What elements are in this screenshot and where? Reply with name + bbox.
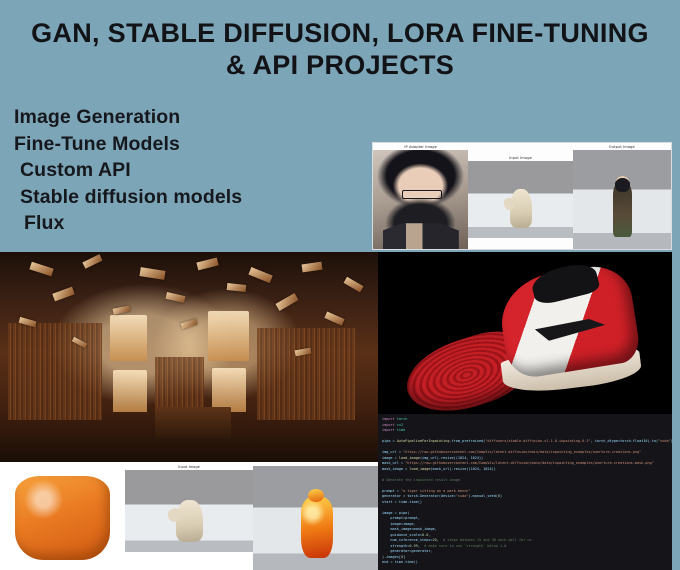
flying-book xyxy=(29,261,53,276)
feature-item-image-generation: Image Generation xyxy=(14,104,364,131)
code-line: end = time.time() xyxy=(382,560,680,566)
flying-book xyxy=(275,293,298,311)
ip-adapter-demo-strip: IP Adapter Image Input Image Output Imag… xyxy=(372,142,672,250)
code-line: pipe = AutoPipelineForInpainting.from_pr… xyxy=(382,439,680,445)
code-editor-pane[interactable]: import torchimport cv2import time pipe =… xyxy=(378,414,680,570)
flying-book xyxy=(325,311,345,325)
anime-output-image xyxy=(573,150,671,249)
ip-adapter-input-caption: Input Image xyxy=(509,154,532,161)
flying-book xyxy=(113,305,131,315)
ip-adapter-reference-caption: IP Adapter Image xyxy=(404,143,437,150)
gummy-bears-image xyxy=(0,466,125,570)
flying-book xyxy=(83,255,103,270)
flying-book xyxy=(181,319,198,329)
library-shelf-left xyxy=(8,323,103,420)
anime-portrait-image xyxy=(373,150,468,249)
library-window-left xyxy=(110,315,148,361)
sneaker-showcase-image xyxy=(378,252,680,414)
right-edge-strip xyxy=(672,252,680,570)
code-body: import torchimport cv2import time pipe =… xyxy=(382,417,680,566)
flying-book xyxy=(196,258,218,270)
polar-bear-input-image xyxy=(125,470,254,552)
feature-list: Image Generation Fine-Tune Models Custom… xyxy=(14,104,364,237)
ip-adapter-output-panel: Output Image xyxy=(573,143,671,249)
feature-item-fine-tune-models: Fine-Tune Models xyxy=(14,131,364,158)
flying-book xyxy=(249,267,273,283)
flying-book xyxy=(166,292,186,303)
gummy-bear-output-image xyxy=(253,466,378,570)
inpaint-demo-strip: Input Image xyxy=(0,462,378,570)
flying-book xyxy=(52,286,75,301)
inpaint-reference-panel xyxy=(0,462,125,570)
feature-item-flux: Flux xyxy=(14,210,364,237)
feature-item-stable-diffusion-models: Stable diffusion models xyxy=(14,184,364,211)
feature-item-custom-api: Custom API xyxy=(14,157,364,184)
header-banner: GAN, STABLE DIFFUSION, LORA FINE-TUNING … xyxy=(0,0,680,100)
inpaint-input-caption: Input Image xyxy=(178,462,200,470)
polar-bear-image xyxy=(468,161,572,237)
library-shelf-right xyxy=(257,328,355,420)
flying-book xyxy=(302,261,323,271)
flying-book xyxy=(226,283,245,292)
flying-book xyxy=(139,267,165,280)
library-window-right xyxy=(208,311,250,361)
ip-adapter-reference-panel: IP Adapter Image xyxy=(373,143,468,249)
library-window-lower-left xyxy=(113,370,147,412)
page-title: GAN, STABLE DIFFUSION, LORA FINE-TUNING … xyxy=(0,18,680,81)
ip-adapter-output-caption: Output Image xyxy=(609,143,635,150)
library-window-lower-right xyxy=(212,368,246,412)
inpaint-input-panel: Input Image xyxy=(125,462,254,570)
library-showcase-image xyxy=(0,252,378,462)
inpaint-output-panel xyxy=(253,462,378,570)
ip-adapter-input-panel: Input Image xyxy=(468,143,572,249)
library-desk xyxy=(155,407,231,439)
flying-book xyxy=(343,277,363,293)
poster-canvas: GAN, STABLE DIFFUSION, LORA FINE-TUNING … xyxy=(0,0,680,570)
